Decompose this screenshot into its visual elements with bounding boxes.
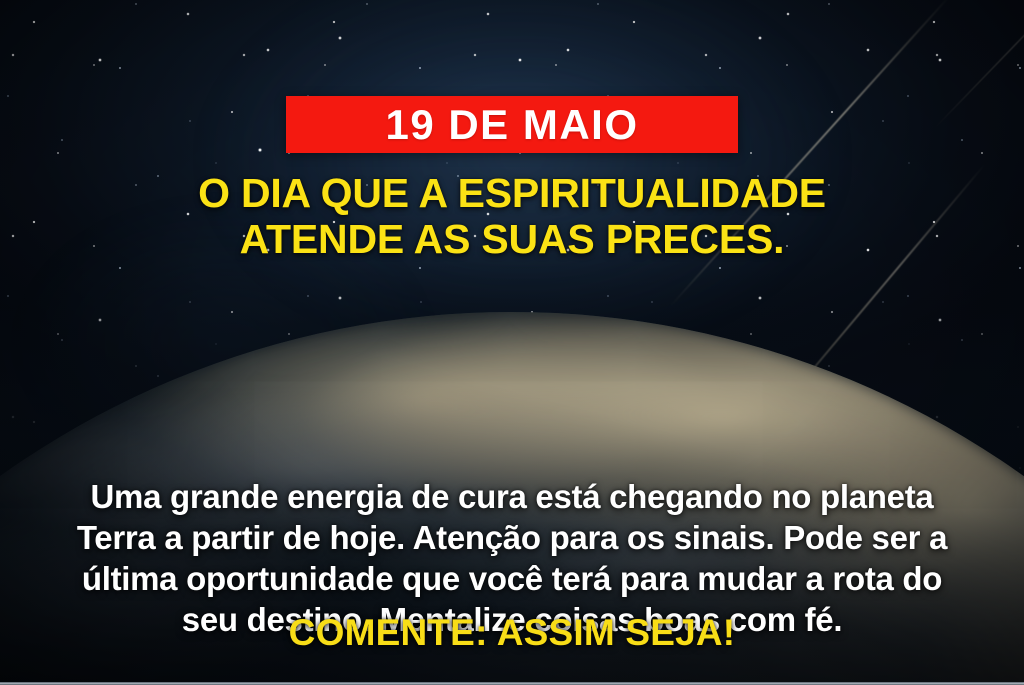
headline-line-2: ATENDE AS SUAS PRECES. xyxy=(62,217,962,263)
poster-canvas: 19 DE MAIO O DIA QUE A ESPIRITUALIDADE A… xyxy=(0,0,1024,685)
date-banner-label: 19 DE MAIO xyxy=(385,104,638,146)
page-title: O DIA QUE A ESPIRITUALIDADE ATENDE AS SU… xyxy=(62,171,962,263)
poster-content: 19 DE MAIO O DIA QUE A ESPIRITUALIDADE A… xyxy=(0,0,1024,685)
date-banner: 19 DE MAIO xyxy=(286,96,738,153)
headline-line-1: O DIA QUE A ESPIRITUALIDADE xyxy=(198,170,826,216)
